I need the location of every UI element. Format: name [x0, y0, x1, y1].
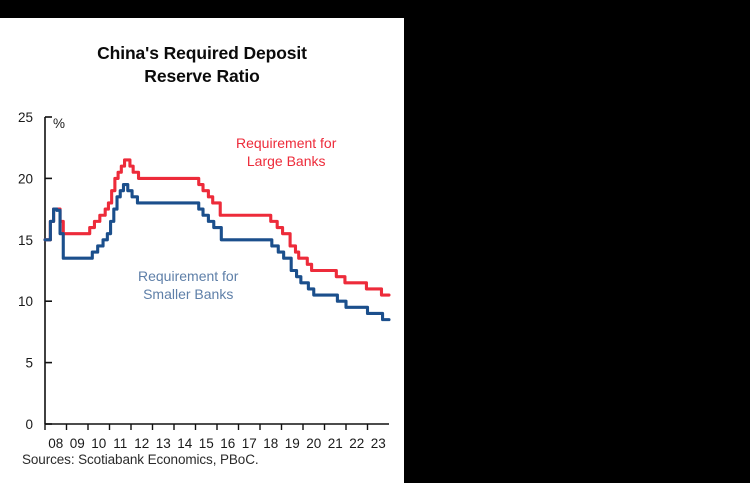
- svg-text:15: 15: [18, 233, 33, 248]
- svg-text:20: 20: [306, 436, 321, 451]
- svg-text:10: 10: [91, 436, 106, 451]
- svg-text:14: 14: [177, 436, 193, 451]
- x-axis-ticks: [45, 424, 368, 430]
- svg-text:21: 21: [328, 436, 343, 451]
- y-axis-ticks: [45, 178, 52, 424]
- svg-text:0: 0: [25, 417, 33, 432]
- svg-text:08: 08: [48, 436, 63, 451]
- svg-text:25: 25: [18, 110, 33, 125]
- svg-text:12: 12: [134, 436, 149, 451]
- chart-plot-area: 0510152025 08091011121314151617181920212…: [0, 18, 404, 483]
- y-axis-unit-label: %: [53, 116, 65, 131]
- svg-text:17: 17: [242, 436, 257, 451]
- svg-text:18: 18: [263, 436, 278, 451]
- svg-text:15: 15: [199, 436, 214, 451]
- svg-text:22: 22: [349, 436, 364, 451]
- svg-text:23: 23: [371, 436, 386, 451]
- x-axis-labels: 08091011121314151617181920212223: [48, 436, 386, 451]
- annotation-small-line-1: Requirement for: [138, 268, 238, 286]
- chart-card: China's Required Deposit Reserve Ratio 0…: [0, 18, 404, 483]
- line-chart: 0510152025 08091011121314151617181920212…: [0, 18, 404, 483]
- figure-root: China's Required Deposit Reserve Ratio 0…: [0, 0, 750, 483]
- svg-text:11: 11: [113, 436, 127, 451]
- svg-text:16: 16: [220, 436, 235, 451]
- annotation-large-banks: Requirement for Large Banks: [236, 135, 336, 171]
- source-note: Sources: Scotiabank Economics, PBoC.: [22, 452, 259, 467]
- svg-text:20: 20: [18, 171, 33, 186]
- annotation-large-line-1: Requirement for: [236, 135, 336, 153]
- svg-text:13: 13: [156, 436, 171, 451]
- svg-text:09: 09: [70, 436, 85, 451]
- annotation-large-line-2: Large Banks: [236, 153, 336, 171]
- svg-text:5: 5: [25, 356, 33, 371]
- annotation-smaller-banks: Requirement for Smaller Banks: [138, 268, 238, 304]
- annotation-small-line-2: Smaller Banks: [138, 286, 238, 304]
- svg-text:19: 19: [285, 436, 300, 451]
- svg-text:10: 10: [18, 294, 33, 309]
- y-axis-labels: 0510152025: [18, 110, 33, 432]
